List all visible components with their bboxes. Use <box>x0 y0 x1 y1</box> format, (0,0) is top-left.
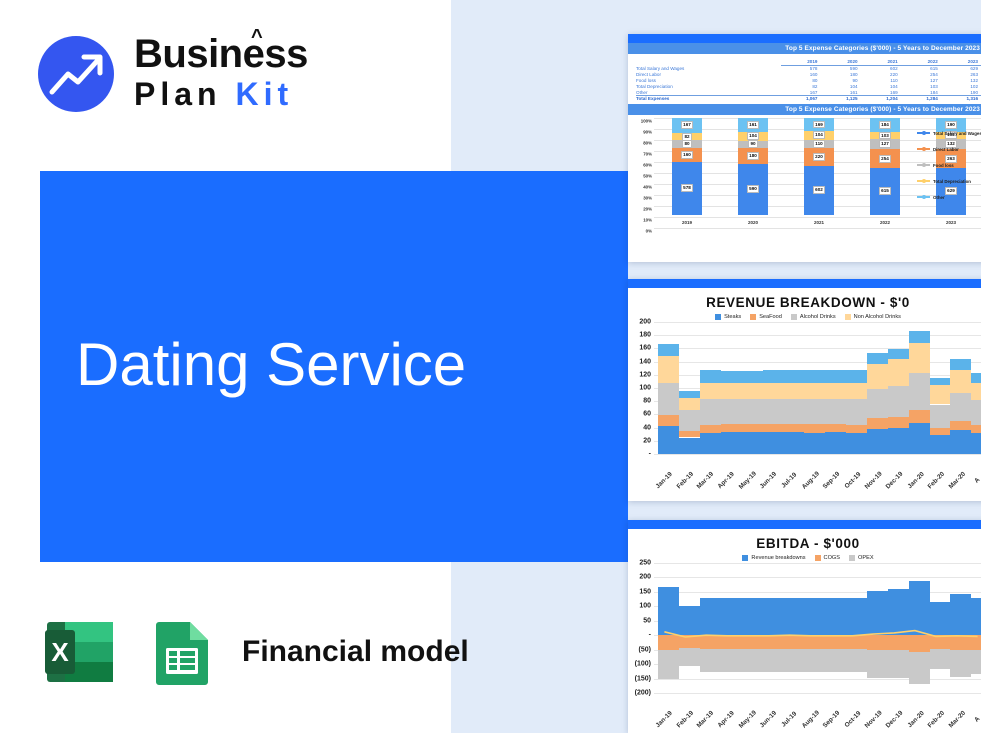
bar-column <box>696 322 717 454</box>
legend-item: Non Alcohol Drinks <box>845 314 901 320</box>
bar-column <box>821 322 842 454</box>
stacked-bar-column: 161104901805902020 <box>738 118 768 225</box>
ebitda-plot: (200)(150)(100)(50)-50100150200250 <box>628 563 981 693</box>
revenue-plot: -20406080100120140160180200 <box>628 322 981 454</box>
stacked-segment: 180 <box>738 148 768 164</box>
x-tick: Feb-19 <box>675 471 695 491</box>
y-tick: 180 <box>639 332 651 339</box>
stacked-segment: 167 <box>672 118 702 133</box>
x-tick: Nov-19 <box>864 709 884 729</box>
stacked-segment: 127 <box>870 139 900 149</box>
format-badges: X Financial model <box>40 612 469 692</box>
y-tick: 20% <box>643 206 652 211</box>
table-header: 2022 <box>902 58 942 66</box>
svg-text:X: X <box>51 637 69 667</box>
table-header: 2021 <box>862 58 902 66</box>
card-accent-bar <box>628 34 981 43</box>
x-tick: Jan-19 <box>655 471 674 490</box>
stacked-segment: 602 <box>804 166 834 214</box>
brand-line-1: Business ^ <box>134 34 308 74</box>
format-label: Financial model <box>242 635 469 669</box>
y-axis-percent: 0%10%20%30%40%50%60%70%80%90%100% <box>632 118 654 235</box>
brand-word-kit: Kit <box>235 76 293 112</box>
x-tick: Jan-20 <box>906 710 925 729</box>
legend-item: Other <box>917 195 981 200</box>
expense-stacked-chart: 0%10%20%30%40%50%60%70%80%90%100% 167828… <box>628 115 981 235</box>
x-tick: Nov-19 <box>864 470 884 490</box>
slide-canvas: Business ^ Plan Kit Dating Service X <box>0 0 981 733</box>
x-tick: Mar-19 <box>696 471 716 491</box>
revenue-bars <box>654 322 981 454</box>
y-tick: (100) <box>635 661 651 668</box>
chart-legend: Revenue breakdownsCOGSOPEX <box>628 555 981 561</box>
table-row-total: Total Expenses1,0671,1251,2041,2841,316 <box>636 95 981 101</box>
stacked-segment: 590 <box>738 164 768 215</box>
x-tick: May-19 <box>737 709 757 729</box>
y-tick: 0% <box>646 228 652 233</box>
x-tick: 2021 <box>804 220 834 225</box>
x-tick: Mar-20 <box>947 471 967 491</box>
bar-column <box>884 322 905 454</box>
bar-column <box>863 322 884 454</box>
page-title: Dating Service <box>76 330 466 399</box>
x-tick: Jun-19 <box>759 471 779 491</box>
expense-table-title: Top 5 Expense Categories ($'000) - 5 Yea… <box>628 43 981 54</box>
legend-item: OPEX <box>849 555 874 561</box>
bar-column <box>905 322 926 454</box>
legend-item: Alcohol Drinks <box>791 314 836 320</box>
y-tick: (50) <box>639 646 651 653</box>
stacked-bar-column: 1691041102206022021 <box>804 118 834 225</box>
x-tick: A <box>974 715 981 723</box>
x-axis-labels: Jan-19Feb-19Mar-19Apr-19May-19Jun-19Jul-… <box>654 469 981 487</box>
legend-item: SeaFood <box>750 314 782 320</box>
y-axis: -20406080100120140160180200 <box>628 322 654 454</box>
bar-column <box>967 322 981 454</box>
y-tick: 60% <box>643 162 652 167</box>
y-tick: 50% <box>643 173 652 178</box>
y-tick: 140 <box>639 358 651 365</box>
stacked-segment: 220 <box>804 148 834 166</box>
y-tick: 80 <box>643 398 651 405</box>
card-expense-categories[interactable]: Top 5 Expense Categories ($'000) - 5 Yea… <box>628 34 981 262</box>
ebitda-line-series <box>654 563 981 693</box>
x-tick: Oct-19 <box>843 471 862 490</box>
chart-legend: Total Salary and WagesDirect LaborFood l… <box>917 131 981 211</box>
bar-column <box>738 322 759 454</box>
chart-legend: SteaksSeaFoodAlcohol DrinksNon Alcohol D… <box>628 314 981 320</box>
y-tick: 60 <box>643 411 651 418</box>
x-tick: Feb-20 <box>927 710 947 730</box>
stacked-segment: 80 <box>672 140 702 147</box>
x-tick: May-19 <box>737 470 757 490</box>
x-tick: Sep-19 <box>822 471 842 491</box>
y-tick: 100 <box>639 385 651 392</box>
table-header: 2020 <box>821 58 861 66</box>
legend-item: Direct Labor <box>917 147 981 152</box>
bar-column <box>654 322 675 454</box>
bar-segment <box>971 433 981 454</box>
x-tick: Jul-19 <box>780 710 798 728</box>
legend-item: Total Salary and Wages <box>917 131 981 136</box>
y-tick: 20 <box>643 437 651 444</box>
x-tick: Aug-19 <box>800 709 820 729</box>
legend-item: COGS <box>815 555 840 561</box>
brand-line-2: Plan Kit <box>134 74 308 114</box>
bar-column <box>842 322 863 454</box>
x-tick: 2022 <box>870 220 900 225</box>
stacked-segment: 160 <box>672 148 702 163</box>
legend-item: Food loss <box>917 163 981 168</box>
card-accent-bar <box>628 279 981 288</box>
y-tick: 160 <box>639 345 651 352</box>
table-header <box>636 58 781 66</box>
y-axis: (200)(150)(100)(50)-50100150200250 <box>628 563 654 693</box>
x-tick: Aug-19 <box>800 470 820 490</box>
expense-chart-title: Top 5 Expense Categories ($'000) - 5 Yea… <box>628 104 981 115</box>
y-tick: 10% <box>643 217 652 222</box>
y-tick: 100% <box>641 118 652 123</box>
y-tick: (150) <box>635 675 651 682</box>
stacked-segment: 103 <box>870 132 900 140</box>
card-accent-bar <box>628 520 981 529</box>
stacked-segment: 615 <box>870 168 900 214</box>
bar-segment <box>971 383 981 400</box>
brand-word-plan: Plan <box>134 76 222 112</box>
stacked-segment: 110 <box>804 140 834 149</box>
x-axis-labels: Jan-19Feb-19Mar-19Apr-19May-19Jun-19Jul-… <box>654 708 981 726</box>
x-tick: Oct-19 <box>843 710 862 729</box>
x-tick: Sep-19 <box>822 710 842 730</box>
x-tick: Mar-20 <box>947 710 967 730</box>
stacked-segment: 161 <box>738 118 768 132</box>
bar-column <box>800 322 821 454</box>
x-tick: Jul-19 <box>780 471 798 489</box>
bar-segment <box>971 373 981 383</box>
y-tick: 200 <box>639 574 651 581</box>
stacked-segment: 104 <box>738 132 768 141</box>
bar-column <box>717 322 738 454</box>
stacked-bar-column: 1841031272546152022 <box>870 118 900 225</box>
stacked-segment: 169 <box>804 118 834 132</box>
y-tick: 70% <box>643 151 652 156</box>
x-tick: Dec-19 <box>885 471 905 491</box>
legend-item: Steaks <box>715 314 741 320</box>
stacked-segment: 190 <box>936 118 966 132</box>
y-tick: - <box>649 451 651 458</box>
x-tick: 2023 <box>936 220 966 225</box>
x-tick: Mar-19 <box>696 710 716 730</box>
brand-circumflex-icon: ^ <box>251 27 262 47</box>
y-tick: 200 <box>639 319 651 326</box>
x-tick: Jan-19 <box>655 710 674 729</box>
ebitda-bars <box>654 563 981 693</box>
card-ebitda[interactable]: EBITDA - $'000 Revenue breakdownsCOGSOPE… <box>628 520 981 733</box>
x-tick: Dec-19 <box>885 710 905 730</box>
x-tick: Apr-19 <box>717 471 736 490</box>
x-tick: 2020 <box>738 220 768 225</box>
x-tick: Jan-20 <box>906 471 925 490</box>
stacked-segment: 254 <box>870 149 900 168</box>
y-tick: - <box>649 632 651 639</box>
y-tick: (200) <box>635 690 651 697</box>
bar-segment <box>971 400 981 425</box>
y-tick: 40 <box>643 424 651 431</box>
x-tick: Apr-19 <box>717 710 736 729</box>
y-tick: 90% <box>643 129 652 134</box>
bar-column <box>925 322 946 454</box>
bar-column <box>675 322 696 454</box>
y-tick: 100 <box>639 603 651 610</box>
x-tick: A <box>974 476 981 484</box>
microsoft-excel-icon: X <box>40 612 120 692</box>
stacked-segment: 578 <box>672 162 702 215</box>
y-tick: 80% <box>643 140 652 145</box>
y-tick: 30% <box>643 195 652 200</box>
legend-item: Total Depreciation <box>917 179 981 184</box>
brand-logo: Business ^ Plan Kit <box>38 34 308 114</box>
y-tick: 50 <box>643 617 651 624</box>
x-tick: Feb-20 <box>927 471 947 491</box>
y-tick: 250 <box>639 560 651 567</box>
bar-column <box>758 322 779 454</box>
stacked-segment: 90 <box>738 141 768 149</box>
y-tick: 40% <box>643 184 652 189</box>
x-tick: Feb-19 <box>675 710 695 730</box>
x-tick: Jun-19 <box>759 710 779 730</box>
stacked-segment: 104 <box>804 131 834 139</box>
expense-table: 20192020202120222023Total Salary and Wag… <box>628 54 981 104</box>
y-tick: 120 <box>639 371 651 378</box>
revenue-chart-title: REVENUE BREAKDOWN - $'0 <box>628 295 981 310</box>
bar-segment <box>971 425 981 433</box>
bar-column <box>779 322 800 454</box>
stacked-bar-column: 16782801605782019 <box>672 118 702 225</box>
table-header: 2019 <box>781 58 821 66</box>
x-tick: 2019 <box>672 220 702 225</box>
bar-column <box>946 322 967 454</box>
stacked-segment: 184 <box>870 118 900 132</box>
ebitda-chart-title: EBITDA - $'000 <box>628 536 981 551</box>
card-revenue-breakdown[interactable]: REVENUE BREAKDOWN - $'0 SteaksSeaFoodAlc… <box>628 279 981 501</box>
legend-item: Revenue breakdowns <box>742 555 805 561</box>
brand-word-business: Business <box>134 32 308 76</box>
google-sheets-icon <box>144 614 220 690</box>
trending-up-arrow-icon <box>38 36 114 112</box>
y-tick: 150 <box>639 588 651 595</box>
table-header: 2023 <box>942 58 981 66</box>
